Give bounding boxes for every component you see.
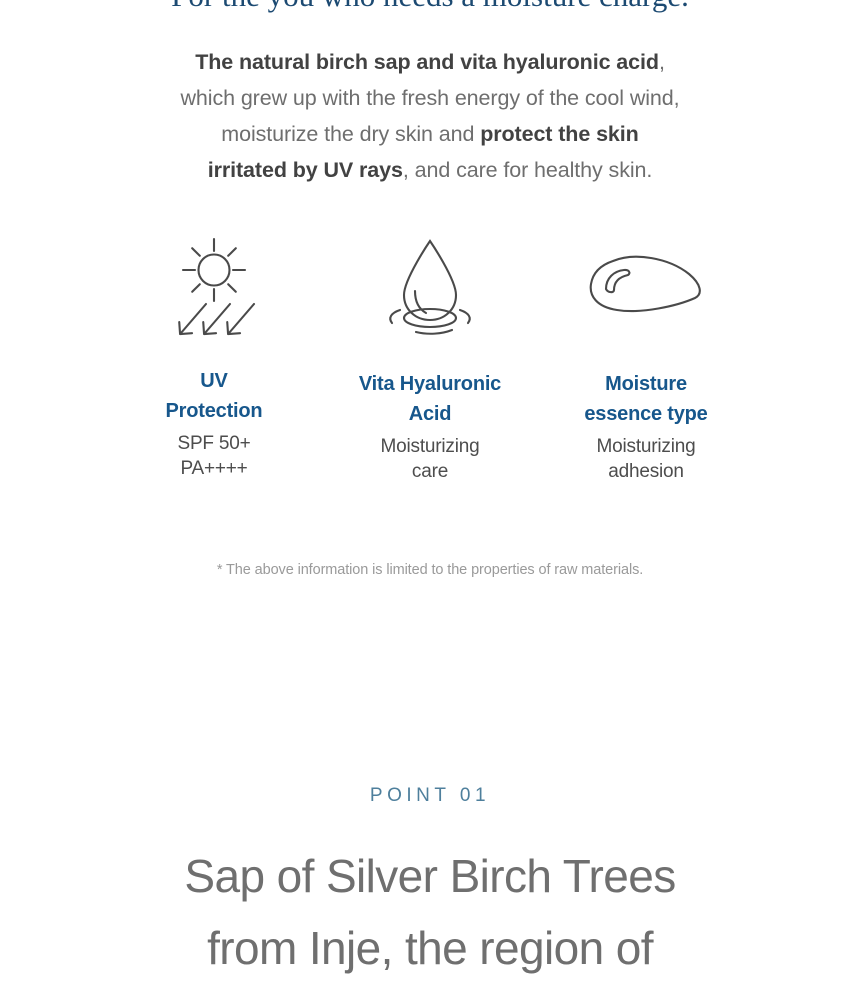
intro-line-1-bold: The natural birch sap and vita hyaluroni… — [195, 50, 659, 74]
feature-title-line-1: Vita Hyaluronic — [359, 369, 501, 399]
feature-title-line-2: Protection — [166, 396, 263, 426]
feature-title-moisture-essence-type: Moisture essence type — [584, 369, 707, 429]
point-label: POINT 01 — [0, 783, 860, 809]
feature-item-uv-protection: UV Protection SPF 50+ PA++++ — [106, 232, 322, 484]
feature-sub-line-2: care — [381, 459, 480, 484]
feature-sub-line-1: Moisturizing — [381, 434, 480, 459]
intro-paragraph: The natural birch sap and vita hyaluroni… — [0, 44, 860, 188]
feature-sub-vita-hyaluronic-acid: Moisturizing care — [381, 434, 480, 484]
intro-line-4: irritated by UV rays, and care for healt… — [0, 152, 860, 188]
feature-item-moisture-essence-type: Moisture essence type Moisturizing adhes… — [538, 232, 754, 484]
feature-sub-line-1: SPF 50+ — [177, 431, 250, 456]
intro-line-4-bold: irritated by UV rays — [208, 158, 403, 182]
feature-sub-uv-protection: SPF 50+ PA++++ — [177, 431, 250, 481]
feature-title-line-1: Moisture — [584, 369, 707, 399]
feature-title-line-1: UV — [166, 366, 263, 396]
feature-sub-line-2: PA++++ — [177, 456, 250, 481]
feature-title-vita-hyaluronic-acid: Vita Hyaluronic Acid — [359, 369, 501, 429]
intro-line-3-pre: moisturize the dry skin and — [221, 122, 480, 146]
page-headline: For the you who needs a moisture charge. — [0, 0, 860, 18]
intro-line-1: The natural birch sap and vita hyaluroni… — [0, 44, 860, 80]
intro-line-3-bold: protect the skin — [480, 122, 639, 146]
intro-line-2: which grew up with the fresh energy of t… — [0, 80, 860, 116]
section-heading-line-2: from Inje, the region of — [0, 912, 860, 984]
essence-smear-icon — [583, 232, 709, 342]
headline-clip-region: For the you who needs a moisture charge. — [0, 0, 860, 20]
sun-uv-rays-icon — [166, 232, 262, 342]
feature-title-uv-protection: UV Protection — [166, 366, 263, 426]
water-droplet-icon — [380, 232, 480, 342]
feature-sub-line-1: Moisturizing — [597, 434, 696, 459]
feature-sub-moisture-essence-type: Moisturizing adhesion — [597, 434, 696, 484]
feature-item-vita-hyaluronic-acid: Vita Hyaluronic Acid Moisturizing care — [322, 232, 538, 484]
intro-line-3: moisturize the dry skin and protect the … — [0, 116, 860, 152]
section-heading-line-1: Sap of Silver Birch Trees — [0, 840, 860, 912]
feature-title-line-2: essence type — [584, 399, 707, 429]
feature-sub-line-2: adhesion — [597, 459, 696, 484]
section-heading: Sap of Silver Birch Trees from Inje, the… — [0, 840, 860, 984]
feature-title-line-2: Acid — [359, 399, 501, 429]
product-detail-page: For the you who needs a moisture charge.… — [0, 0, 860, 994]
intro-line-1-tail: , — [659, 50, 665, 74]
intro-line-4-tail: , and care for healthy skin. — [403, 158, 652, 182]
feature-list: UV Protection SPF 50+ PA++++ — [0, 232, 860, 484]
footnote-raw-materials: * The above information is limited to th… — [0, 560, 860, 580]
